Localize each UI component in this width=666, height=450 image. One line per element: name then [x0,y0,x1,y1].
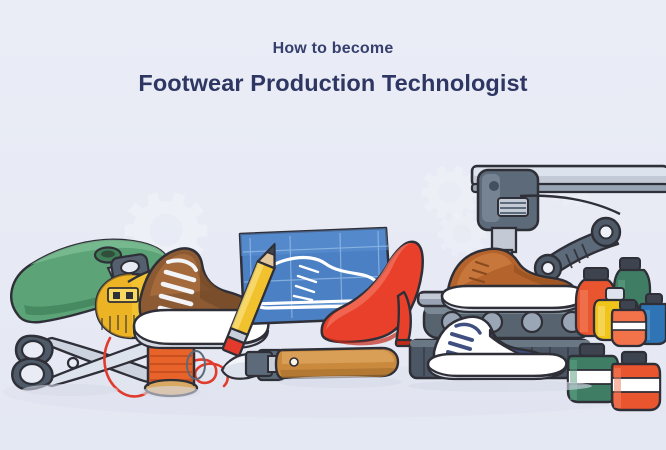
gear-background-center [421,166,479,219]
glue-jars-front [568,344,660,410]
glue-bottles-back [576,258,666,346]
page-title: Footwear Production Technologist [0,70,666,97]
leather-knife [246,348,398,378]
jar-orange [612,352,660,410]
page-kicker: How to become [0,40,666,58]
header-block: How to become Footwear Production Techno… [0,0,666,97]
illustration-poster: How to become Footwear Production Techno… [0,0,666,450]
